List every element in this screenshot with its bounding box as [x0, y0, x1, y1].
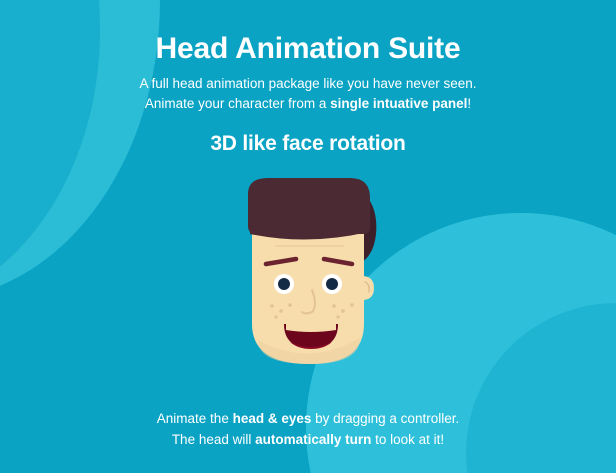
footer-line-2-suffix: to look at it!	[371, 432, 444, 447]
page-title: Head Animation Suite	[0, 0, 616, 65]
teeth-icon	[286, 324, 336, 332]
footer-line-2-prefix: The head will	[172, 432, 255, 447]
eye-left-pupil-icon	[278, 278, 290, 290]
subtitle-text: A full head animation package like you h…	[0, 74, 616, 113]
footer-line-1-prefix: Animate the	[157, 411, 233, 426]
hair-icon	[248, 178, 370, 234]
headline-block: Head Animation Suite A full head animati…	[0, 0, 616, 156]
cartoon-head-illustration	[228, 172, 388, 372]
subtitle-line-2-suffix: !	[467, 96, 471, 111]
footer-line-2-emphasis: automatically turn	[255, 432, 371, 447]
subtitle-line-2-emphasis: single intuative panel	[330, 96, 467, 111]
subtitle-line-2-prefix: Animate your character from a	[145, 96, 330, 111]
subtitle-line-1: A full head animation package like you h…	[140, 76, 477, 91]
footer-caption: Animate the head & eyes by dragging a co…	[0, 409, 616, 451]
promo-banner: Head Animation Suite A full head animati…	[0, 0, 616, 473]
footer-line-1-emphasis: head & eyes	[233, 411, 312, 426]
eye-right-pupil-icon	[326, 278, 338, 290]
feature-heading: 3D like face rotation	[0, 132, 616, 156]
ear-icon	[362, 276, 374, 300]
footer-line-1-suffix: by dragging a controller.	[311, 411, 459, 426]
